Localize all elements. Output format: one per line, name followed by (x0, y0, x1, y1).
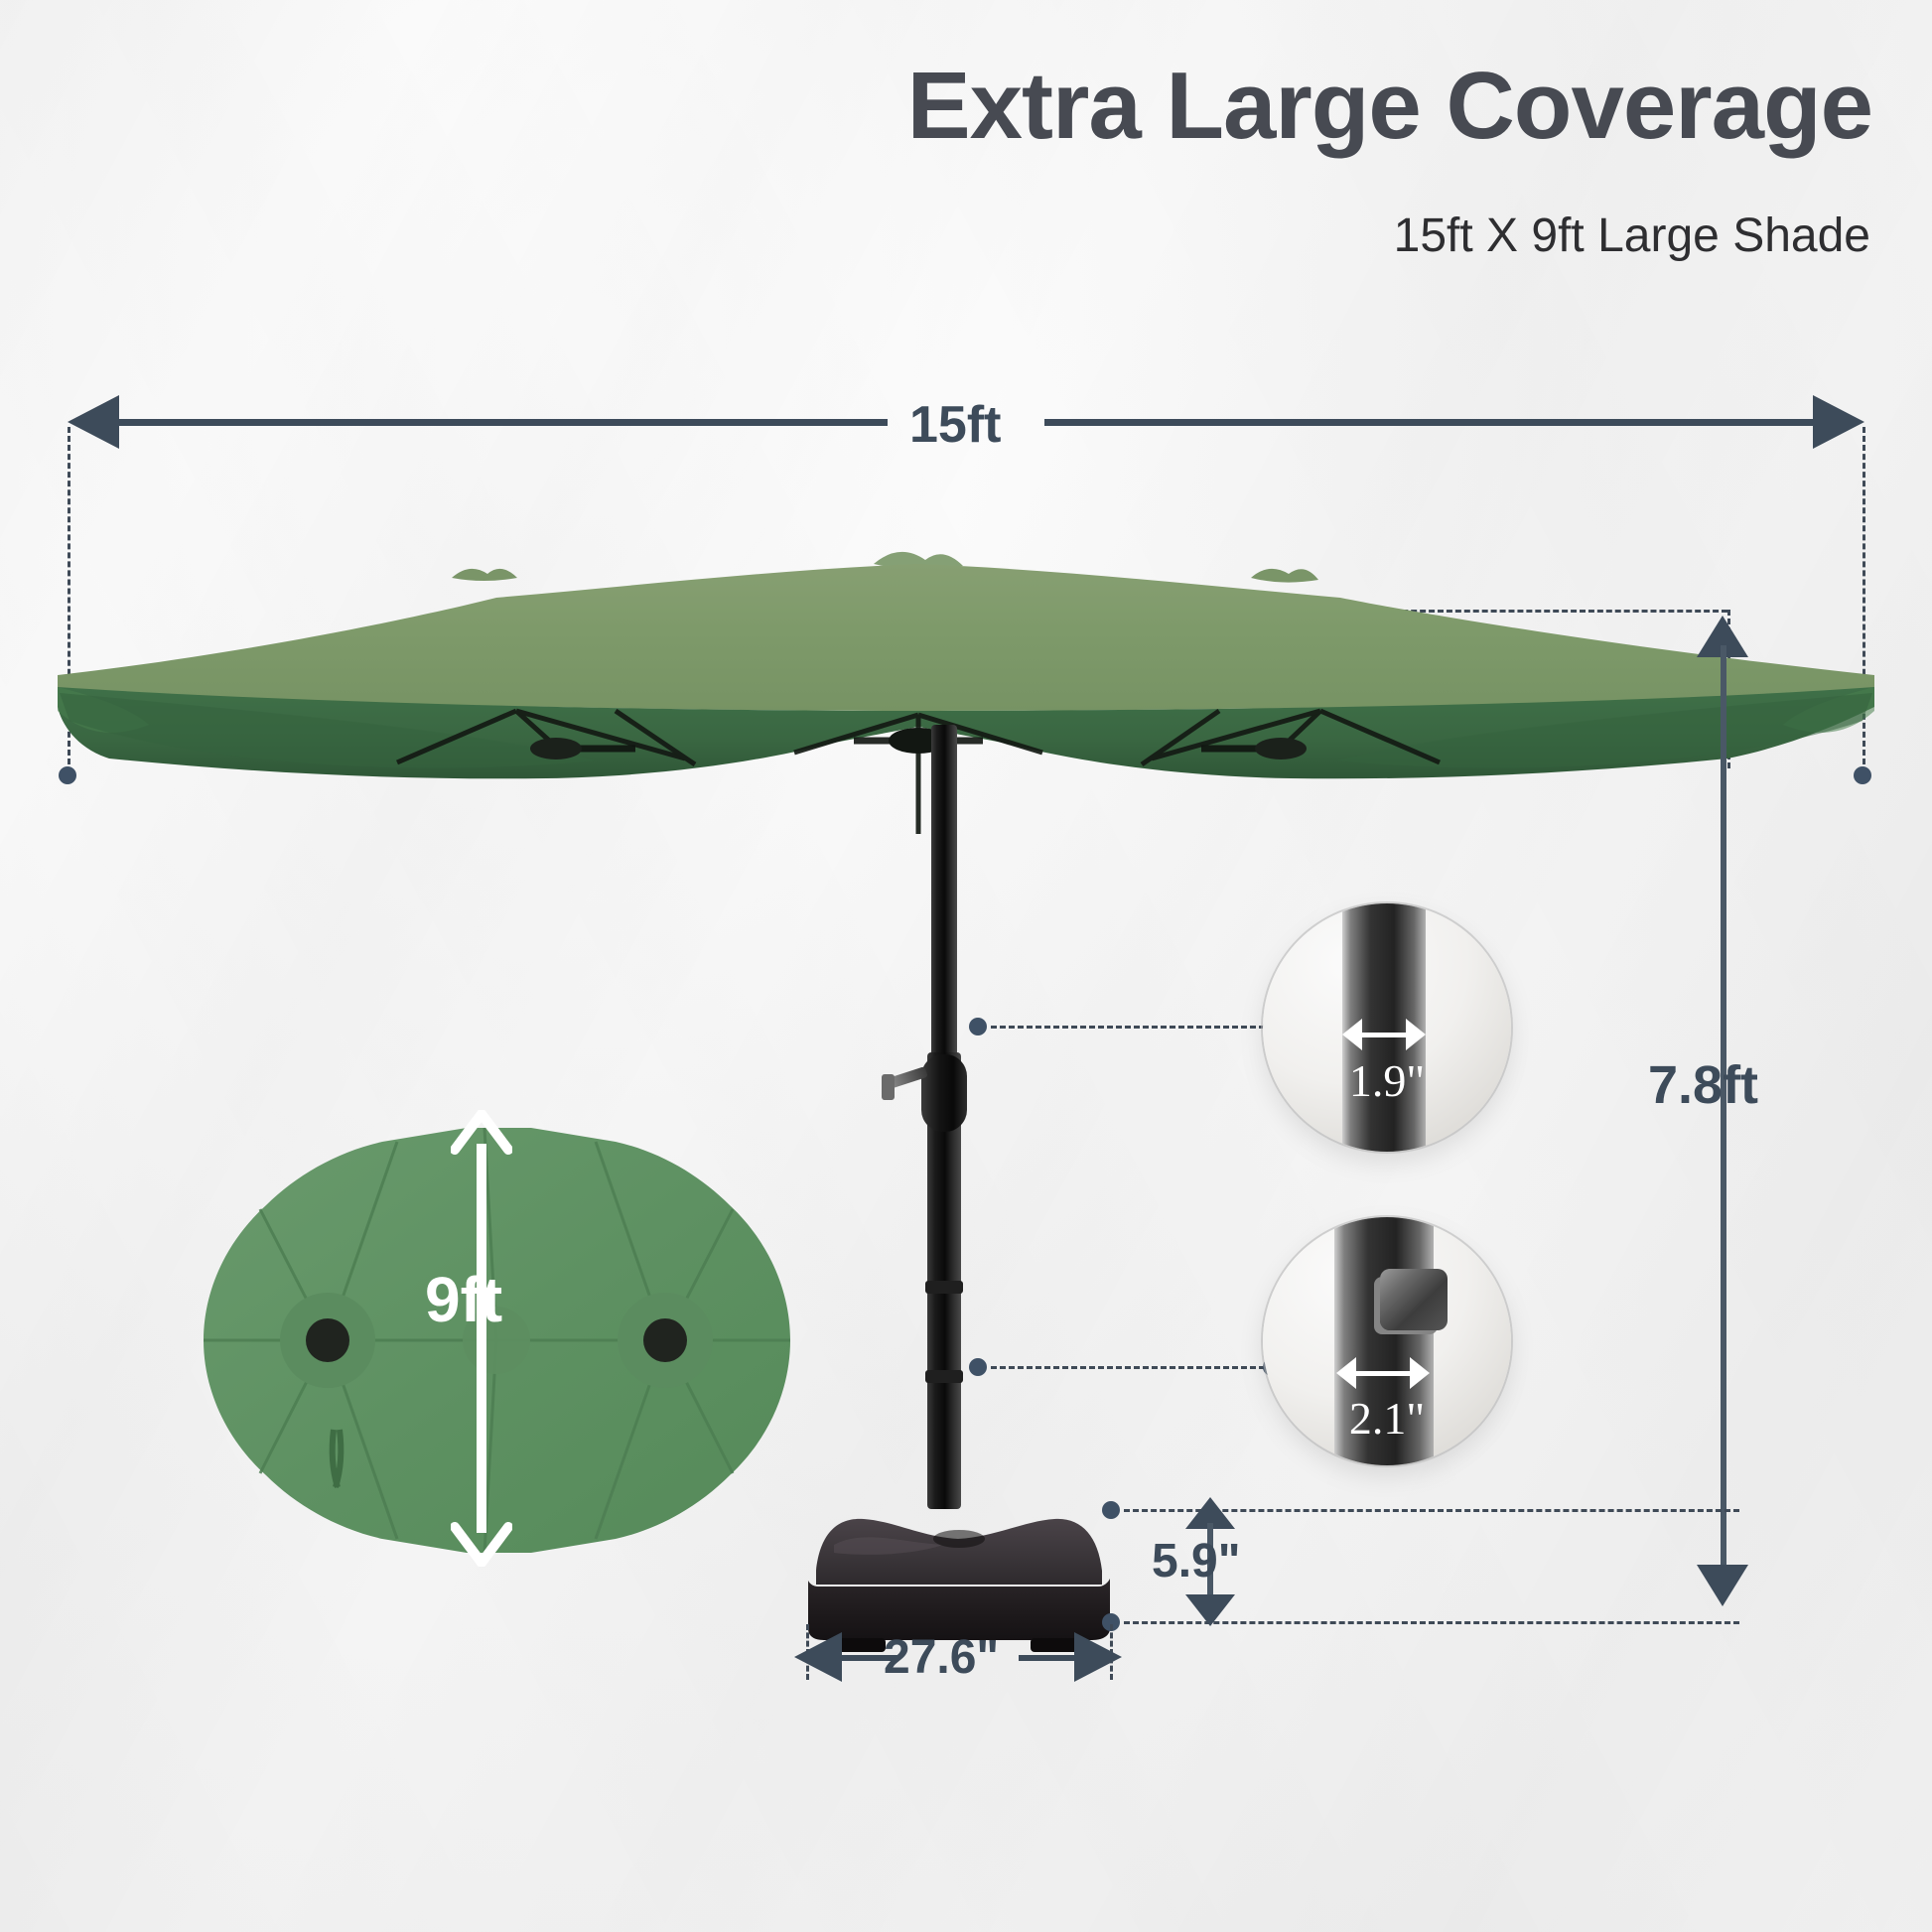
dimension-label-height: 7.8ft (1648, 1054, 1758, 1116)
arrow-head-down-base-icon (1185, 1594, 1235, 1626)
arrow-head-left-base-icon (794, 1632, 842, 1682)
umbrella-pole-upper (931, 725, 957, 1062)
magnifier-arrow-line-lower (1352, 1371, 1414, 1376)
magnifier-arrow-line-upper (1358, 1033, 1410, 1037)
page-title: Extra Large Coverage (0, 52, 1872, 161)
magnifier-arrow-left-lower-icon (1336, 1357, 1356, 1389)
anchor-dot-pole-upper (969, 1018, 987, 1035)
dimension-label-depth: 9ft (425, 1263, 502, 1336)
dimension-label-base-width: 27.6" (884, 1630, 999, 1685)
magnified-crank-icon (1380, 1269, 1448, 1330)
guide-line-to-magnifier-lower (991, 1366, 1265, 1369)
magnifier-label-lower: 2.1" (1263, 1392, 1511, 1445)
ruler-bar-right (1044, 419, 1819, 426)
dimension-label-base-height: 5.9" (1152, 1534, 1240, 1588)
magnifier-pole-upper: 1.9" (1263, 903, 1511, 1152)
umbrella-crank-housing (921, 1054, 967, 1132)
arrow-head-left-icon (68, 395, 119, 449)
dimension-label-width: 15ft (909, 395, 1001, 455)
magnifier-label-upper: 1.9" (1263, 1054, 1511, 1107)
umbrella-side-view-image (0, 536, 1932, 854)
ruler-shaft-depth (477, 1144, 486, 1533)
magnifier-arrow-right-icon (1406, 1019, 1426, 1050)
pole-collar-ring-lower (925, 1370, 963, 1383)
magnifier-arrow-right-lower-icon (1410, 1357, 1430, 1389)
ruler-bar-left (113, 419, 888, 426)
umbrella-crank-knob (882, 1074, 895, 1100)
anchor-dot-pole-lower (969, 1358, 987, 1376)
dimension-ruler-depth-9ft (477, 1110, 486, 1567)
pole-collar-ring-upper (925, 1281, 963, 1294)
infographic-canvas: Extra Large Coverage 15ft X 9ft Large Sh… (0, 0, 1932, 1932)
arrow-head-down-icon (1697, 1565, 1748, 1606)
arrow-head-right-base-icon (1074, 1632, 1122, 1682)
arrow-head-right-icon (1813, 395, 1864, 449)
magnifier-arrow-left-icon (1342, 1019, 1362, 1050)
arrow-head-up-depth-icon (451, 1110, 512, 1172)
anchor-dot-base-top-right (1102, 1501, 1120, 1519)
page-subtitle: 15ft X 9ft Large Shade (0, 208, 1870, 263)
magnifier-pole-lower: 2.1" (1263, 1217, 1511, 1465)
ruler-bar-base-right (1019, 1655, 1080, 1661)
arrow-head-down-depth-icon (451, 1505, 512, 1567)
guide-line-to-magnifier-upper (991, 1026, 1265, 1029)
